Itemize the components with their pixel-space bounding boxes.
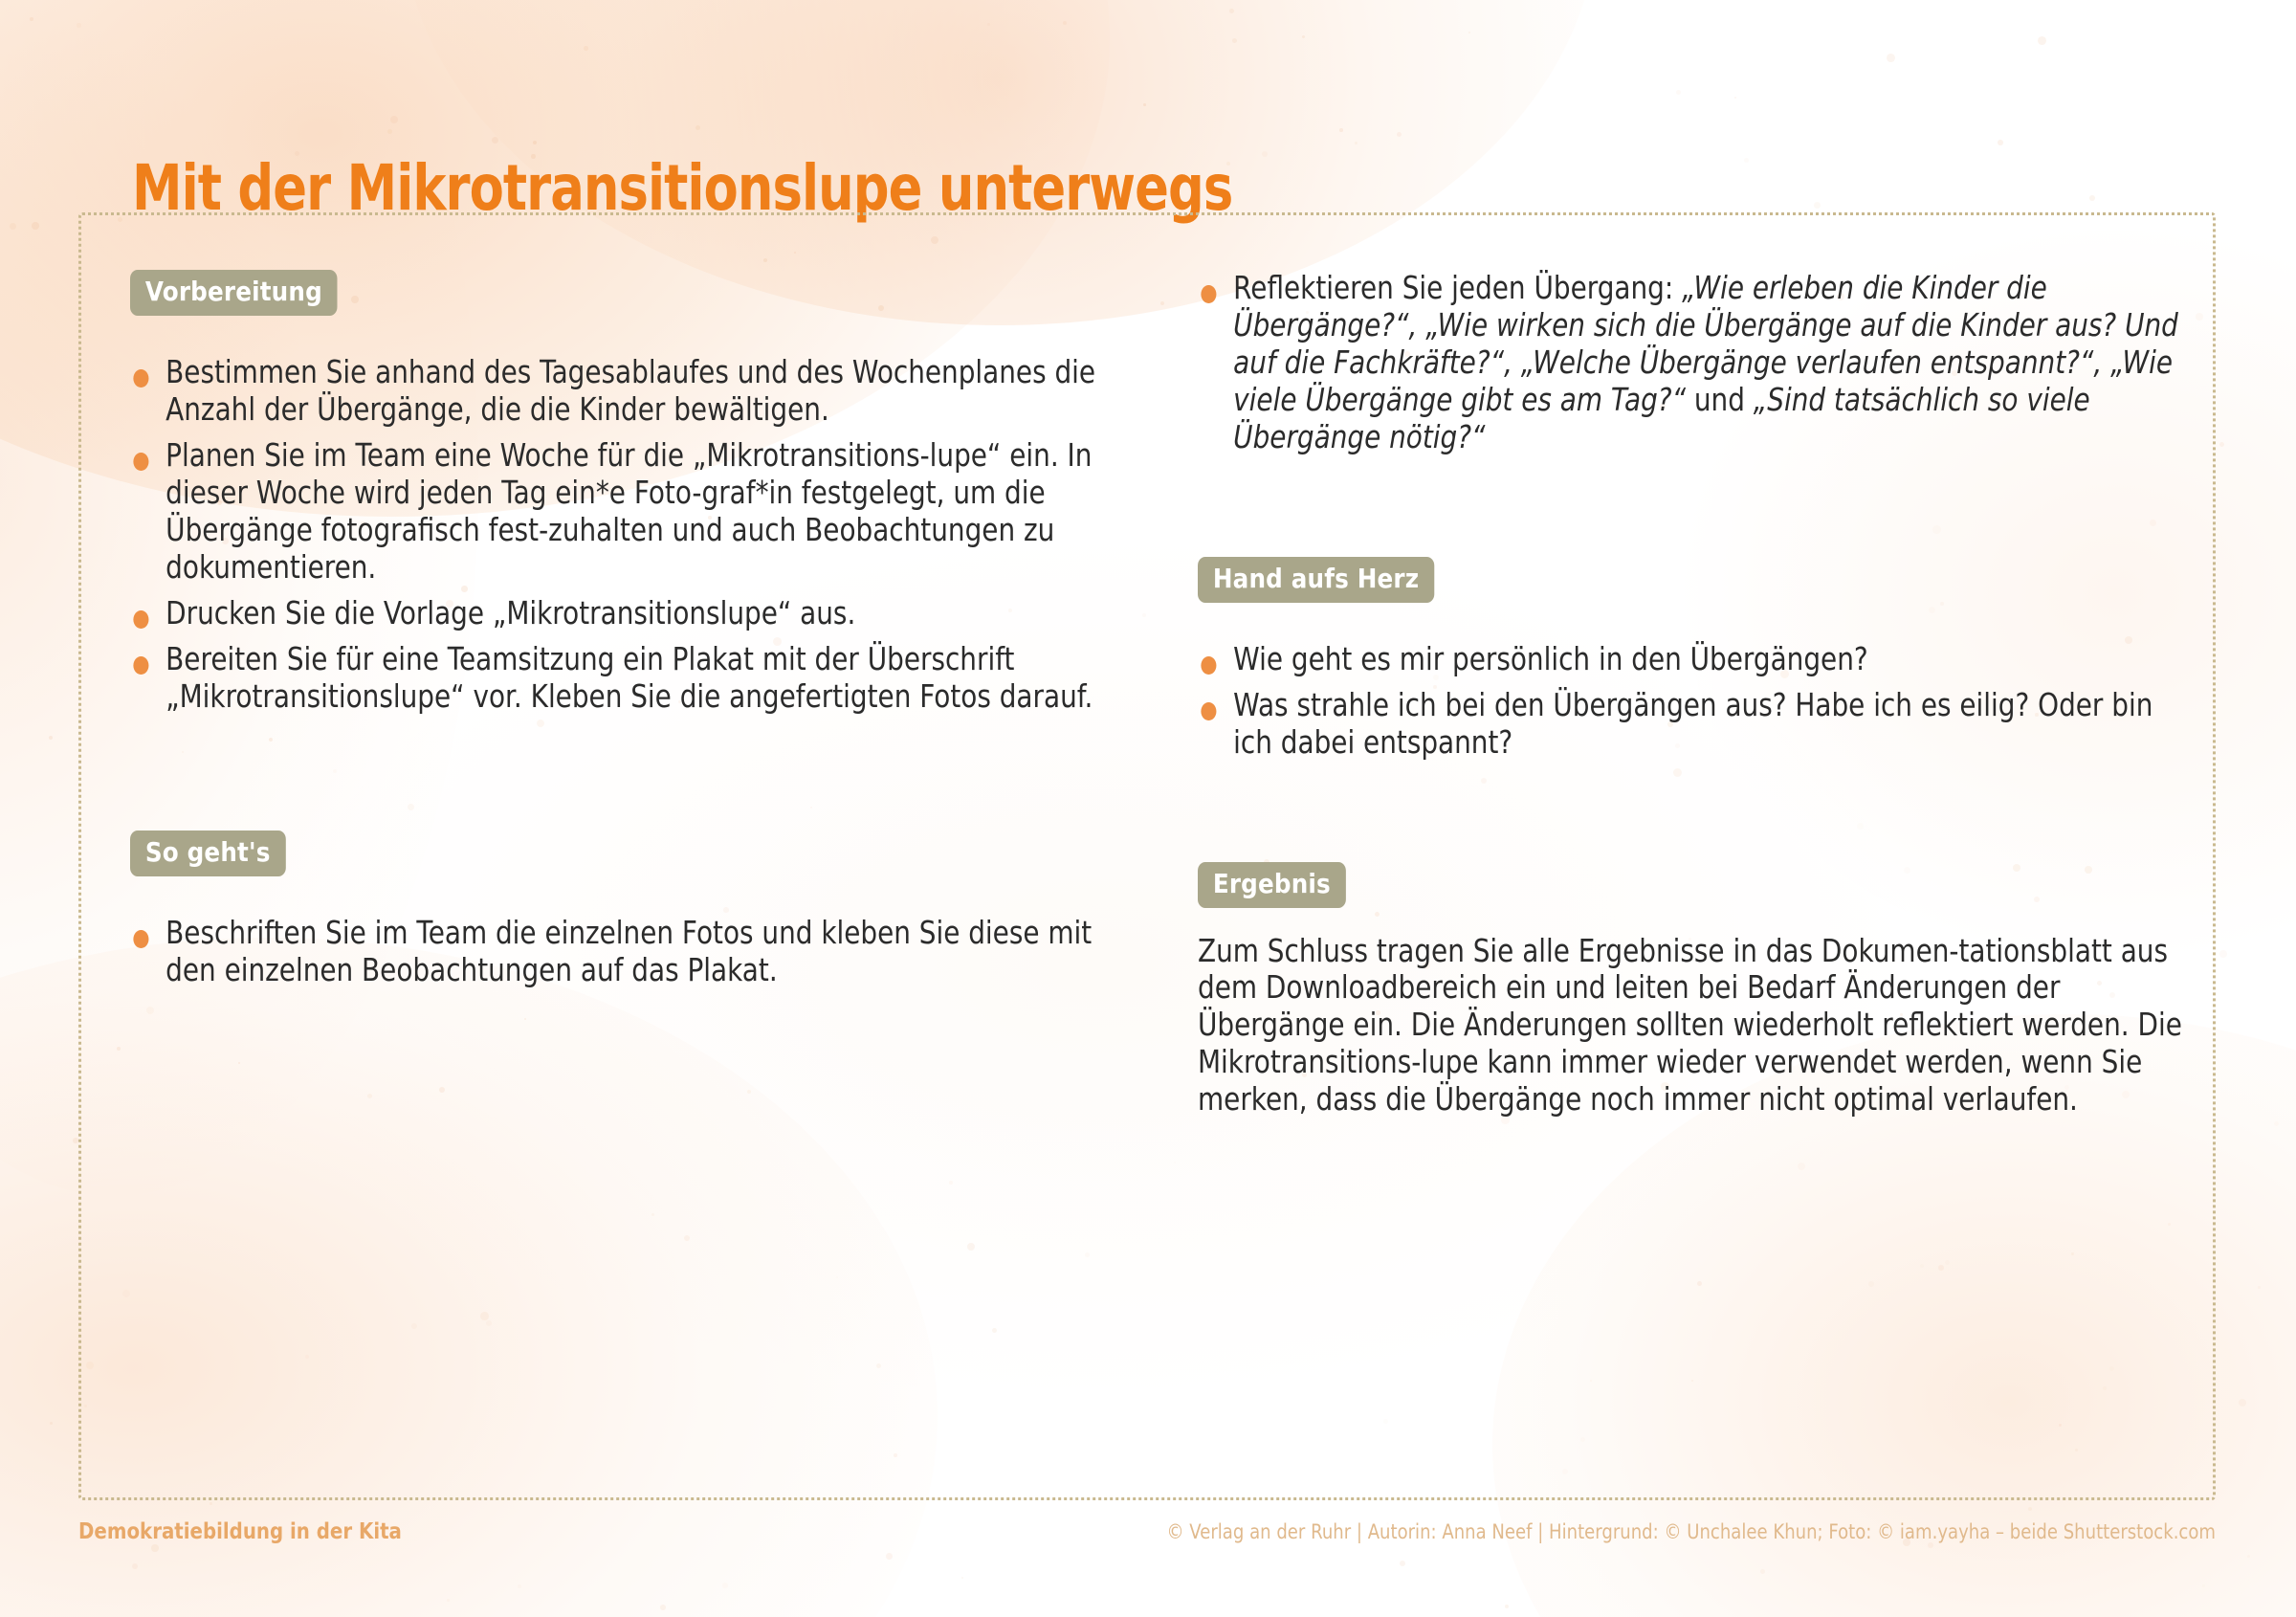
bullet-dot-icon [1201, 656, 1216, 675]
reflektieren-body: Reflektieren Sie jeden Übergang: „Wie er… [1198, 270, 2183, 456]
bullet-dot-icon [1201, 285, 1216, 303]
badge-vorbereitung: Vorbereitung [130, 270, 338, 316]
list-item-text: Was strahle ich bei den Übergängen aus? … [1233, 686, 2152, 761]
vorbereitung-body: Bestimmen Sie anhand des Tagesablaufes u… [130, 354, 1115, 715]
bullet-dot-icon [1201, 702, 1216, 720]
page-title: Mit der Mikrotransitionslupe unterwegs [132, 157, 1232, 220]
badge-ergebnis: Ergebnis [1198, 862, 1346, 908]
hand-aufs-herz-body: Wie geht es mir persönlich in den Übergä… [1198, 641, 2183, 762]
list-item-text: Wie geht es mir persönlich in den Übergä… [1233, 640, 1867, 677]
list-item: Wie geht es mir persönlich in den Übergä… [1198, 641, 2183, 678]
list-item: Beschriften Sie im Team die einzelnen Fo… [130, 915, 1115, 989]
spacer [130, 876, 1115, 915]
list-item: Planen Sie im Team eine Woche für die „M… [130, 437, 1115, 587]
left-column: Vorbereitung Bestimmen Sie anhand des Ta… [130, 270, 1115, 1500]
list-item: Bereiten Sie für eine Teamsitzung ein Pl… [130, 641, 1115, 716]
list-item-text: Bereiten Sie für eine Teamsitzung ein Pl… [166, 640, 1093, 715]
footer-credits: © Verlag an der Ruhr | Autorin: Anna Nee… [1166, 1520, 2216, 1543]
ergebnis-paragraph: Zum Schluss tragen Sie alle Ergebnisse i… [1198, 933, 2183, 1119]
bullet-dot-icon [133, 453, 148, 471]
badge-hand-aufs-herz: Hand aufs Herz [1198, 557, 1434, 603]
list-item-text: Bestimmen Sie anhand des Tagesablaufes u… [166, 353, 1095, 428]
list-item: Bestimmen Sie anhand des Tagesablaufes u… [130, 354, 1115, 429]
right-column: Reflektieren Sie jeden Übergang: „Wie er… [1198, 270, 2183, 1500]
vorbereitung-bullet-list: Bestimmen Sie anhand des Tagesablaufes u… [130, 354, 1115, 715]
spacer [1198, 770, 2183, 862]
spacer [1198, 465, 2183, 557]
reflektieren-conjunction: und [1686, 381, 1754, 418]
hand-aufs-herz-bullet-list: Wie geht es mir persönlich in den Übergä… [1198, 641, 2183, 762]
list-item: Drucken Sie die Vorlage „Mikrotransition… [130, 595, 1115, 632]
footer-series-title: Demokratiebildung in der Kita [78, 1519, 402, 1544]
list-item-text: Drucken Sie die Vorlage „Mikrotransition… [166, 594, 855, 631]
spacer [130, 723, 1115, 831]
so-gehts-bullet-list: Beschriften Sie im Team die einzelnen Fo… [130, 915, 1115, 989]
list-item: Reflektieren Sie jeden Übergang: „Wie er… [1198, 270, 2183, 456]
reflektieren-bullet-list: Reflektieren Sie jeden Übergang: „Wie er… [1198, 270, 2183, 456]
so-gehts-body: Beschriften Sie im Team die einzelnen Fo… [130, 915, 1115, 989]
bullet-dot-icon [133, 610, 148, 629]
bullet-dot-icon [133, 930, 148, 948]
worksheet-page: Mit der Mikrotransitionslupe unterwegs V… [0, 0, 2296, 1617]
spacer [1198, 603, 2183, 641]
reflektieren-lead: Reflektieren Sie jeden Übergang: [1233, 269, 1682, 306]
spacer [130, 316, 1115, 354]
list-item-text: Beschriften Sie im Team die einzelnen Fo… [166, 914, 1092, 988]
badge-so-gehts: So geht's [130, 831, 285, 876]
page-footer: Demokratiebildung in der Kita © Verlag a… [78, 1519, 2216, 1544]
bullet-dot-icon [133, 656, 148, 675]
list-item: Was strahle ich bei den Übergängen aus? … [1198, 687, 2183, 762]
list-item-text: Planen Sie im Team eine Woche für die „M… [166, 436, 1092, 586]
ergebnis-body: Zum Schluss tragen Sie alle Ergebnisse i… [1198, 933, 2183, 1119]
content-columns: Vorbereitung Bestimmen Sie anhand des Ta… [78, 212, 2216, 1500]
spacer [1198, 908, 2183, 933]
bullet-dot-icon [133, 369, 148, 388]
